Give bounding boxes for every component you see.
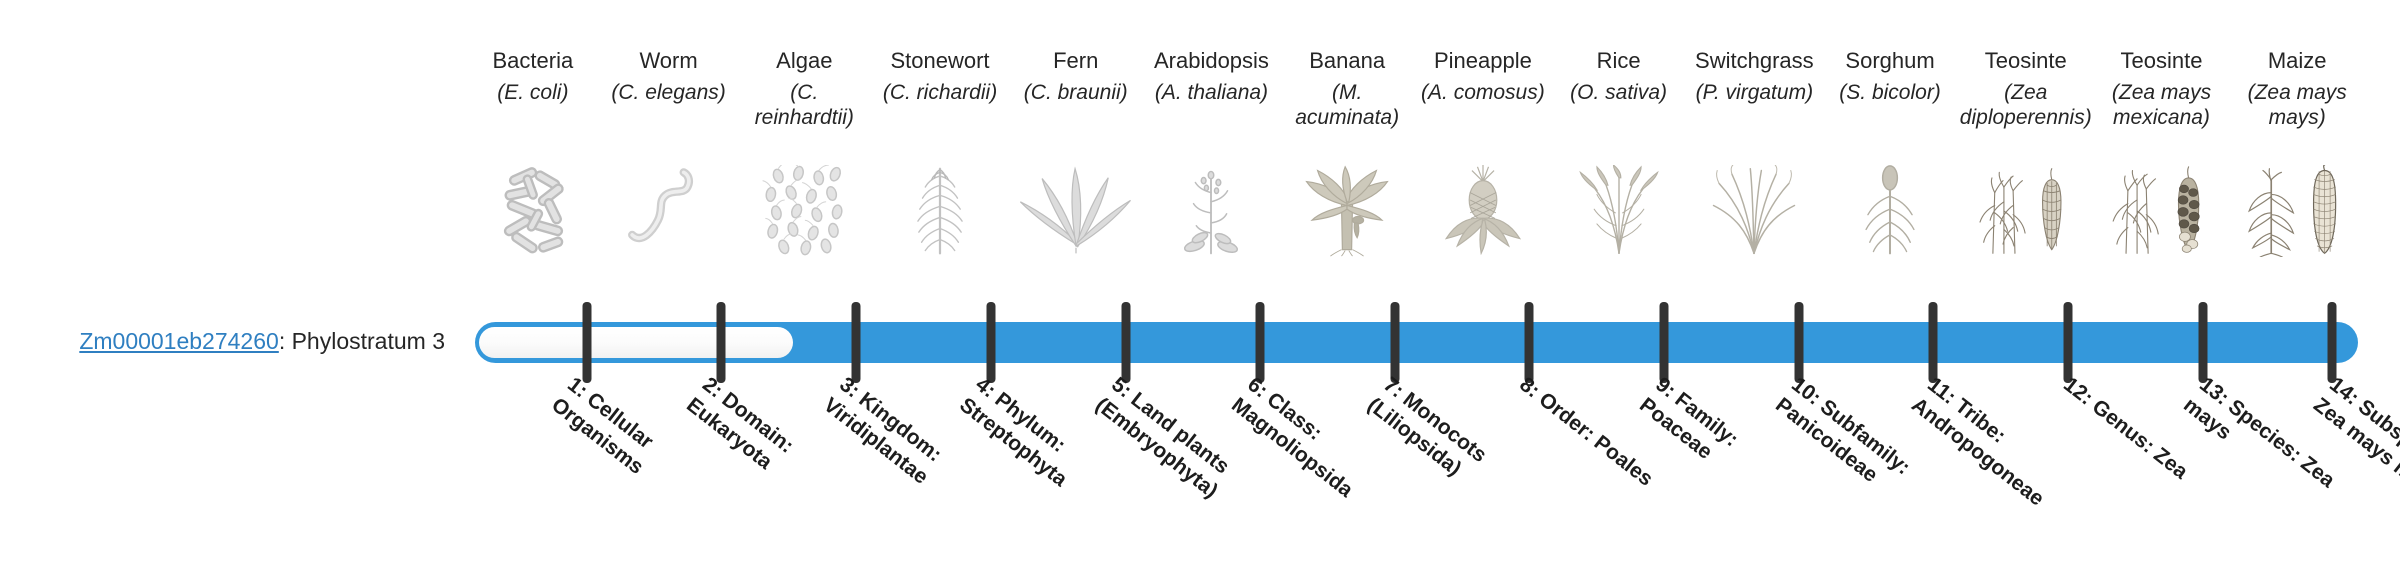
species-column-rice: Rice (O. sativa) (1551, 48, 1687, 308)
species-common-name: Sorghum (1845, 48, 1934, 74)
species-scientific-name: (Zea mays mexicana) (2095, 80, 2227, 130)
species-scientific-name: (A. comosus) (1421, 80, 1545, 105)
timeline-tick (1256, 302, 1265, 383)
species-scientific-name: (M. acuminata) (1281, 80, 1413, 130)
species-column-banana: Banana (M. acuminata) (1279, 48, 1415, 308)
species-column-pineapple: Pineapple (A. comosus) (1415, 48, 1551, 308)
species-column-stonewort: Stonewort (C. richardii) (872, 48, 1008, 308)
rank-text: Order: Poales (1535, 388, 1658, 491)
species-scientific-name: (E. coli) (497, 80, 568, 105)
species-column-arabidopsis: Arabidopsis (A. thaliana) (1144, 48, 1280, 308)
species-column-maize: Maize (Zea mays mays) (2229, 48, 2365, 308)
species-column-teosinte-diploperennis: Teosinte (Zea diploperennis) (1958, 48, 2094, 308)
rank-label: 3: Kingdom: Viridiplantae (818, 372, 989, 521)
species-column-sorghum: Sorghum (S. bicolor) (1822, 48, 1958, 308)
timeline-tick (1390, 302, 1399, 383)
species-column-teosinte-mexicana: Teosinte (Zea mays mexicana) (2094, 48, 2230, 308)
timeline-tick (1794, 302, 1803, 383)
worm-illustration (604, 165, 734, 257)
species-scientific-name: (P. virgatum) (1696, 80, 1813, 105)
timeline-tick (716, 302, 725, 383)
species-scientific-name: (Zea mays mays) (2231, 80, 2363, 130)
phylostratum-timeline[interactable] (475, 322, 2358, 363)
timeline-tick (2198, 302, 2207, 383)
species-scientific-name: (C. richardii) (883, 80, 997, 105)
rank-label: 9: Family: Poaceae (1634, 372, 1805, 521)
species-scientific-name: (S. bicolor) (1839, 80, 1941, 105)
species-common-name: Algae (776, 48, 832, 74)
species-column-algae: Algae (C. reinhardtii) (736, 48, 872, 308)
sorghum-illustration (1825, 165, 1955, 257)
rank-label: 7: Monocots (Liliopsida) (1362, 372, 1533, 521)
rank-label: 10: Subfamily: Panicoideae (1770, 372, 1941, 521)
rank-text: Domain: Eukaryota (682, 388, 798, 474)
pineapple-illustration (1418, 165, 1548, 257)
phylostratum-rank-labels: 1: Cellular Organisms 2: Domain: Eukaryo… (465, 372, 2365, 580)
rice-illustration (1554, 165, 1684, 257)
species-column-fern: Fern (C. braunii) (1008, 48, 1144, 308)
species-common-name: Switchgrass (1695, 48, 1814, 74)
gene-label-separator: : (279, 328, 292, 354)
species-scientific-name: (C. braunii) (1024, 80, 1128, 105)
bacteria-illustration (468, 165, 598, 257)
timeline-tick (852, 302, 861, 383)
rank-label: 1: Cellular Organisms (546, 372, 717, 521)
species-common-name: Arabidopsis (1154, 48, 1269, 74)
switchgrass-illustration (1689, 165, 1819, 257)
rank-text: Monocots (Liliopsida) (1363, 388, 1491, 480)
species-scientific-name: (A. thaliana) (1155, 80, 1268, 105)
rank-label: 5: Land plants (Embryophyta) (1090, 372, 1261, 521)
timeline-tick (1660, 302, 1669, 383)
species-column-bacteria: Bacteria (E. coli) (465, 48, 601, 308)
maize-illustration (2232, 165, 2362, 257)
species-common-name: Rice (1597, 48, 1641, 74)
rank-label: 6: Class: Magnoliopsida (1226, 372, 1397, 521)
timeline-tick (2327, 302, 2336, 383)
teosinte-diploperennis-illustration (1961, 165, 2091, 257)
timeline-tick (583, 302, 592, 383)
timeline-tick (986, 302, 995, 383)
species-common-name: Maize (2268, 48, 2327, 74)
species-common-name: Worm (639, 48, 697, 74)
phylostratum-value-text: Phylostratum 3 (292, 328, 445, 354)
species-common-name: Teosinte (1985, 48, 2067, 74)
fern-illustration (1011, 165, 1141, 257)
phylostratum-figure: Zm00001eb274260: Phylostratum 3 Bacteria… (0, 0, 2400, 580)
timeline-tick (2064, 302, 2073, 383)
species-scientific-name: (Zea diploperennis) (1960, 80, 2092, 130)
rank-text: Genus: Zea (2088, 395, 2192, 484)
gene-id-link[interactable]: Zm00001eb274260 (79, 328, 279, 354)
species-scientific-name: (O. sativa) (1570, 80, 1667, 105)
rank-label: 4: Phylum: Streptophyta (954, 372, 1125, 521)
rank-label: 12: Genus: Zea (2058, 372, 2213, 501)
rank-text: Family: Poaceae (1635, 388, 1742, 464)
algae-illustration (739, 165, 869, 257)
species-scientific-name: (C. reinhardtii) (738, 80, 870, 130)
species-common-name: Pineapple (1434, 48, 1532, 74)
rank-label: 8: Order: Poales (1514, 372, 1669, 501)
rank-label: 2: Domain: Eukaryota (681, 372, 852, 521)
timeline-tick (1929, 302, 1938, 383)
species-common-name: Stonewort (890, 48, 989, 74)
banana-illustration (1282, 165, 1412, 257)
rank-number: 12: (2059, 373, 2097, 410)
rank-text: Cellular Organisms (547, 388, 657, 479)
species-column-switchgrass: Switchgrass (P. virgatum) (1686, 48, 1822, 308)
timeline-unfilled-region (479, 327, 793, 358)
arabidopsis-illustration (1146, 165, 1276, 257)
species-header-row: Bacteria (E. coli) (465, 48, 2365, 308)
species-common-name: Banana (1309, 48, 1385, 74)
species-column-worm: Worm (C. elegans) (601, 48, 737, 308)
stonewort-illustration (875, 165, 1005, 257)
timeline-tick (1121, 302, 1130, 383)
species-scientific-name: (C. elegans) (611, 80, 725, 105)
species-common-name: Bacteria (493, 48, 574, 74)
rank-label: 11: Tribe: Andropogoneae (1906, 372, 2077, 521)
species-common-name: Fern (1053, 48, 1098, 74)
gene-phylostratum-label: Zm00001eb274260: Phylostratum 3 (0, 327, 455, 355)
teosinte-mexicana-illustration (2096, 165, 2226, 257)
species-common-name: Teosinte (2121, 48, 2203, 74)
